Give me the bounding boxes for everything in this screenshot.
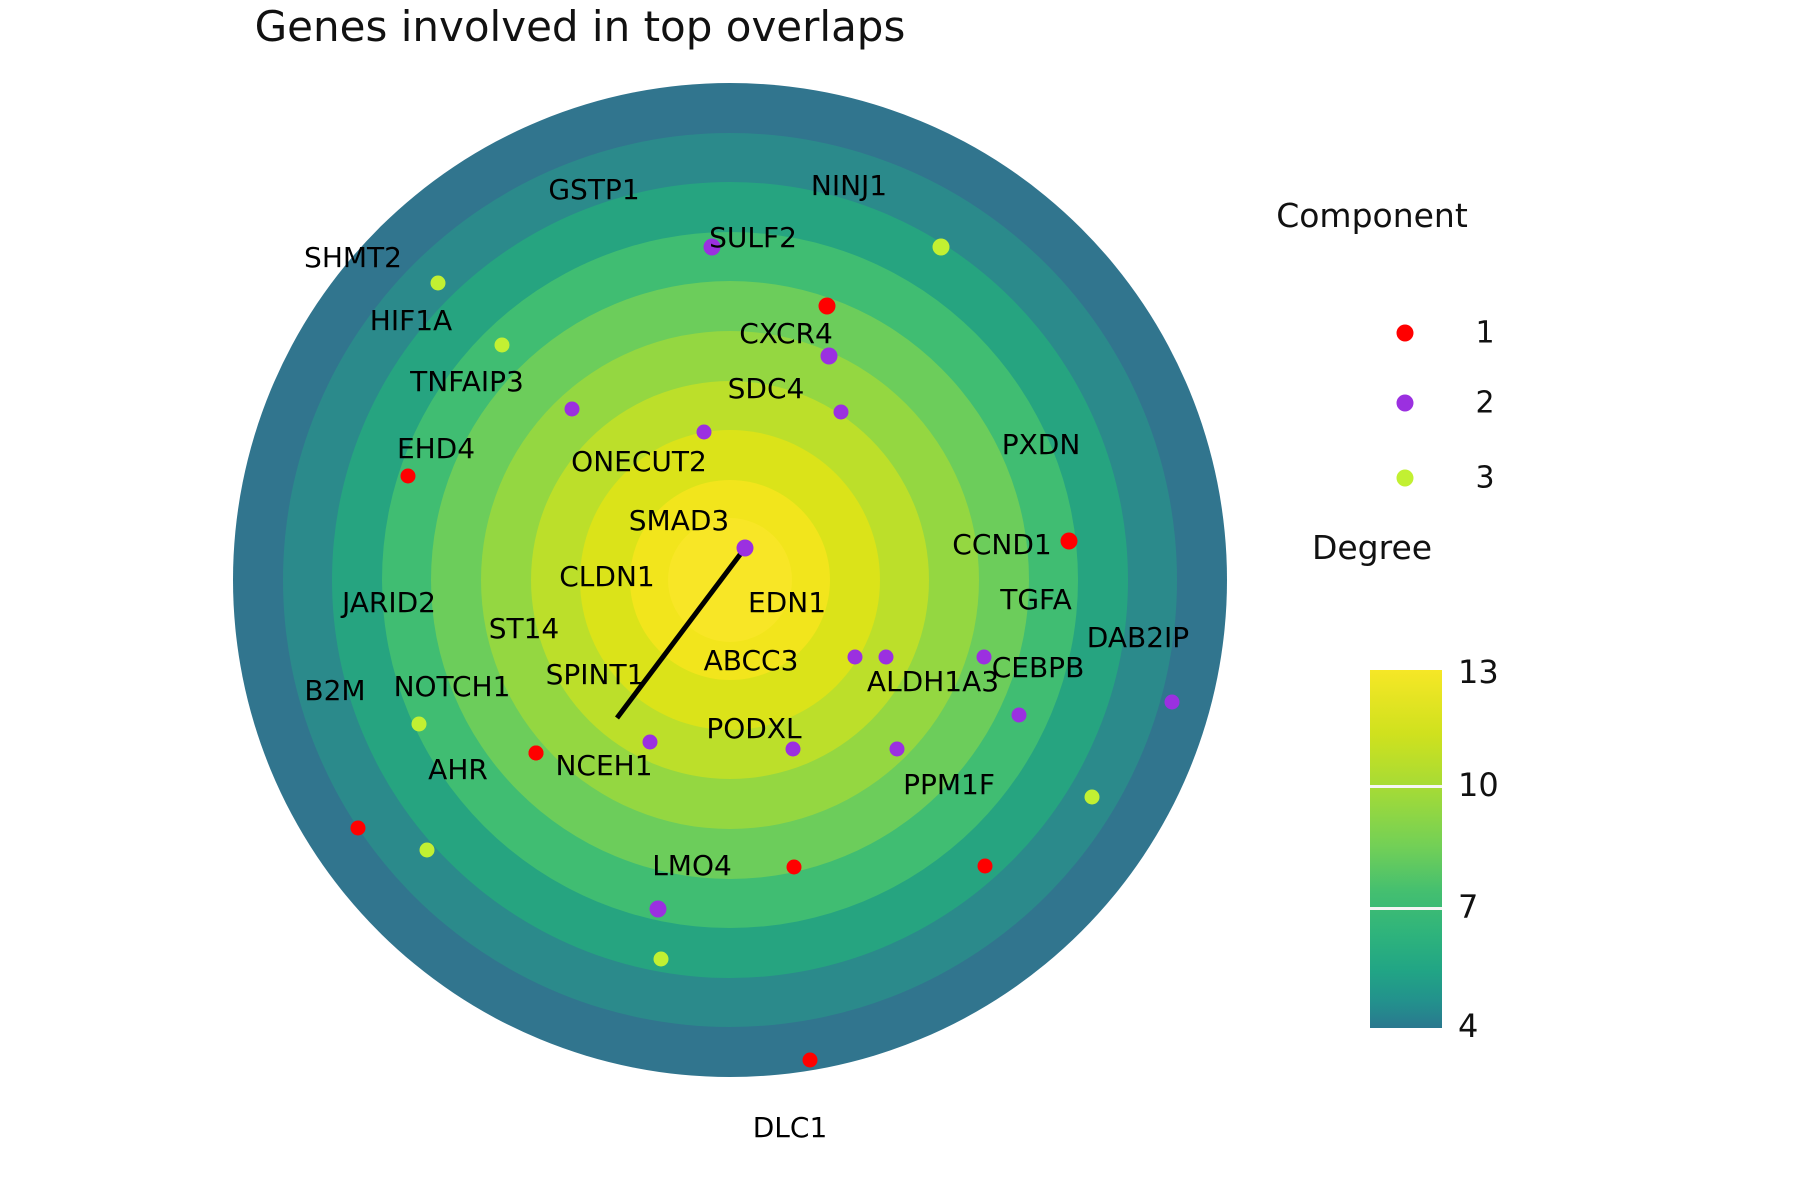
node-point[interactable]: [933, 239, 950, 256]
node-label: ALDH1A3: [867, 668, 999, 696]
node-label: GSTP1: [548, 176, 639, 204]
legend-component-swatch: [1397, 395, 1414, 412]
node-point[interactable]: [654, 952, 669, 967]
node-label: SPINT1: [546, 661, 645, 689]
legend-degree-title: Degree: [1312, 528, 1432, 567]
node-point[interactable]: [650, 901, 667, 918]
node-point[interactable]: [495, 338, 510, 353]
node-point[interactable]: [431, 276, 446, 291]
node-label: EDN1: [748, 589, 826, 617]
node-point[interactable]: [848, 650, 863, 665]
degree-colorbar: [1370, 670, 1442, 1028]
node-label: ONECUT2: [571, 448, 707, 476]
node-point[interactable]: [879, 650, 894, 665]
colorbar-tick: [1370, 785, 1442, 788]
node-label: CCND1: [952, 531, 1051, 559]
node-point[interactable]: [697, 425, 712, 440]
colorbar-tick-label: 13: [1458, 653, 1499, 691]
legend-component-label: 3: [1475, 461, 1494, 496]
node-point[interactable]: [737, 540, 754, 557]
node-label: SDC4: [728, 375, 805, 403]
edge-layer: [0, 0, 1800, 1200]
node-point[interactable]: [819, 298, 836, 315]
node-label: PODXL: [706, 715, 801, 743]
node-point[interactable]: [821, 348, 838, 365]
node-label: CLDN1: [559, 563, 654, 591]
node-point[interactable]: [565, 402, 580, 417]
node-label: DAB2IP: [1087, 624, 1189, 652]
node-point[interactable]: [1085, 790, 1100, 805]
legend-component-label: 2: [1475, 386, 1494, 421]
colorbar-tick-label: 7: [1458, 888, 1478, 926]
node-point[interactable]: [1165, 695, 1180, 710]
node-point[interactable]: [351, 821, 366, 836]
colorbar-tick-label: 4: [1458, 1007, 1478, 1045]
node-label: DLC1: [753, 1114, 828, 1142]
node-point[interactable]: [834, 405, 849, 420]
node-label: JARID2: [342, 589, 436, 617]
node-label: PPM1F: [903, 771, 995, 799]
node-label: NCEH1: [555, 752, 652, 780]
node-point[interactable]: [978, 859, 993, 874]
node-label: B2M: [304, 677, 365, 705]
node-point[interactable]: [412, 717, 427, 732]
node-label: LMO4: [652, 852, 732, 880]
node-label: SULF2: [709, 224, 797, 252]
node-label: PXDN: [1002, 431, 1081, 459]
page-title: Genes involved in top overlaps: [0, 2, 1160, 51]
node-label: HIF1A: [370, 307, 452, 335]
node-point[interactable]: [787, 860, 802, 875]
node-label: CEBPB: [992, 654, 1085, 682]
node-point[interactable]: [420, 843, 435, 858]
node-point[interactable]: [401, 469, 416, 484]
node-label: CXCR4: [739, 320, 833, 348]
node-point[interactable]: [643, 735, 658, 750]
node-point[interactable]: [1061, 533, 1078, 550]
node-point[interactable]: [1012, 708, 1027, 723]
node-label: SHMT2: [304, 244, 402, 272]
legend-component-label: 1: [1475, 316, 1494, 351]
node-point[interactable]: [803, 1053, 818, 1068]
colorbar-tick-label: 10: [1458, 766, 1499, 804]
node-label: AHR: [428, 756, 488, 784]
node-label: SMAD3: [629, 507, 729, 535]
node-label: NINJ1: [811, 172, 887, 200]
node-point[interactable]: [890, 742, 905, 757]
node-label: EHD4: [397, 435, 475, 463]
node-label: TGFA: [1000, 586, 1072, 614]
legend-component-swatch: [1397, 325, 1414, 342]
legend-component-swatch: [1397, 470, 1414, 487]
node-point[interactable]: [529, 746, 544, 761]
node-label: ST14: [489, 615, 560, 643]
node-point[interactable]: [977, 650, 992, 665]
colorbar-tick: [1370, 907, 1442, 910]
scatter-plot-canvas: GSTP1NINJ1SHMT2SULF2HIF1ACXCR4TNFAIP3SDC…: [0, 0, 1800, 1200]
node-label: TNFAIP3: [410, 368, 524, 396]
node-label: ABCC3: [704, 647, 799, 675]
legend-component-title: Component: [1276, 196, 1468, 235]
node-label: NOTCH1: [394, 673, 511, 701]
